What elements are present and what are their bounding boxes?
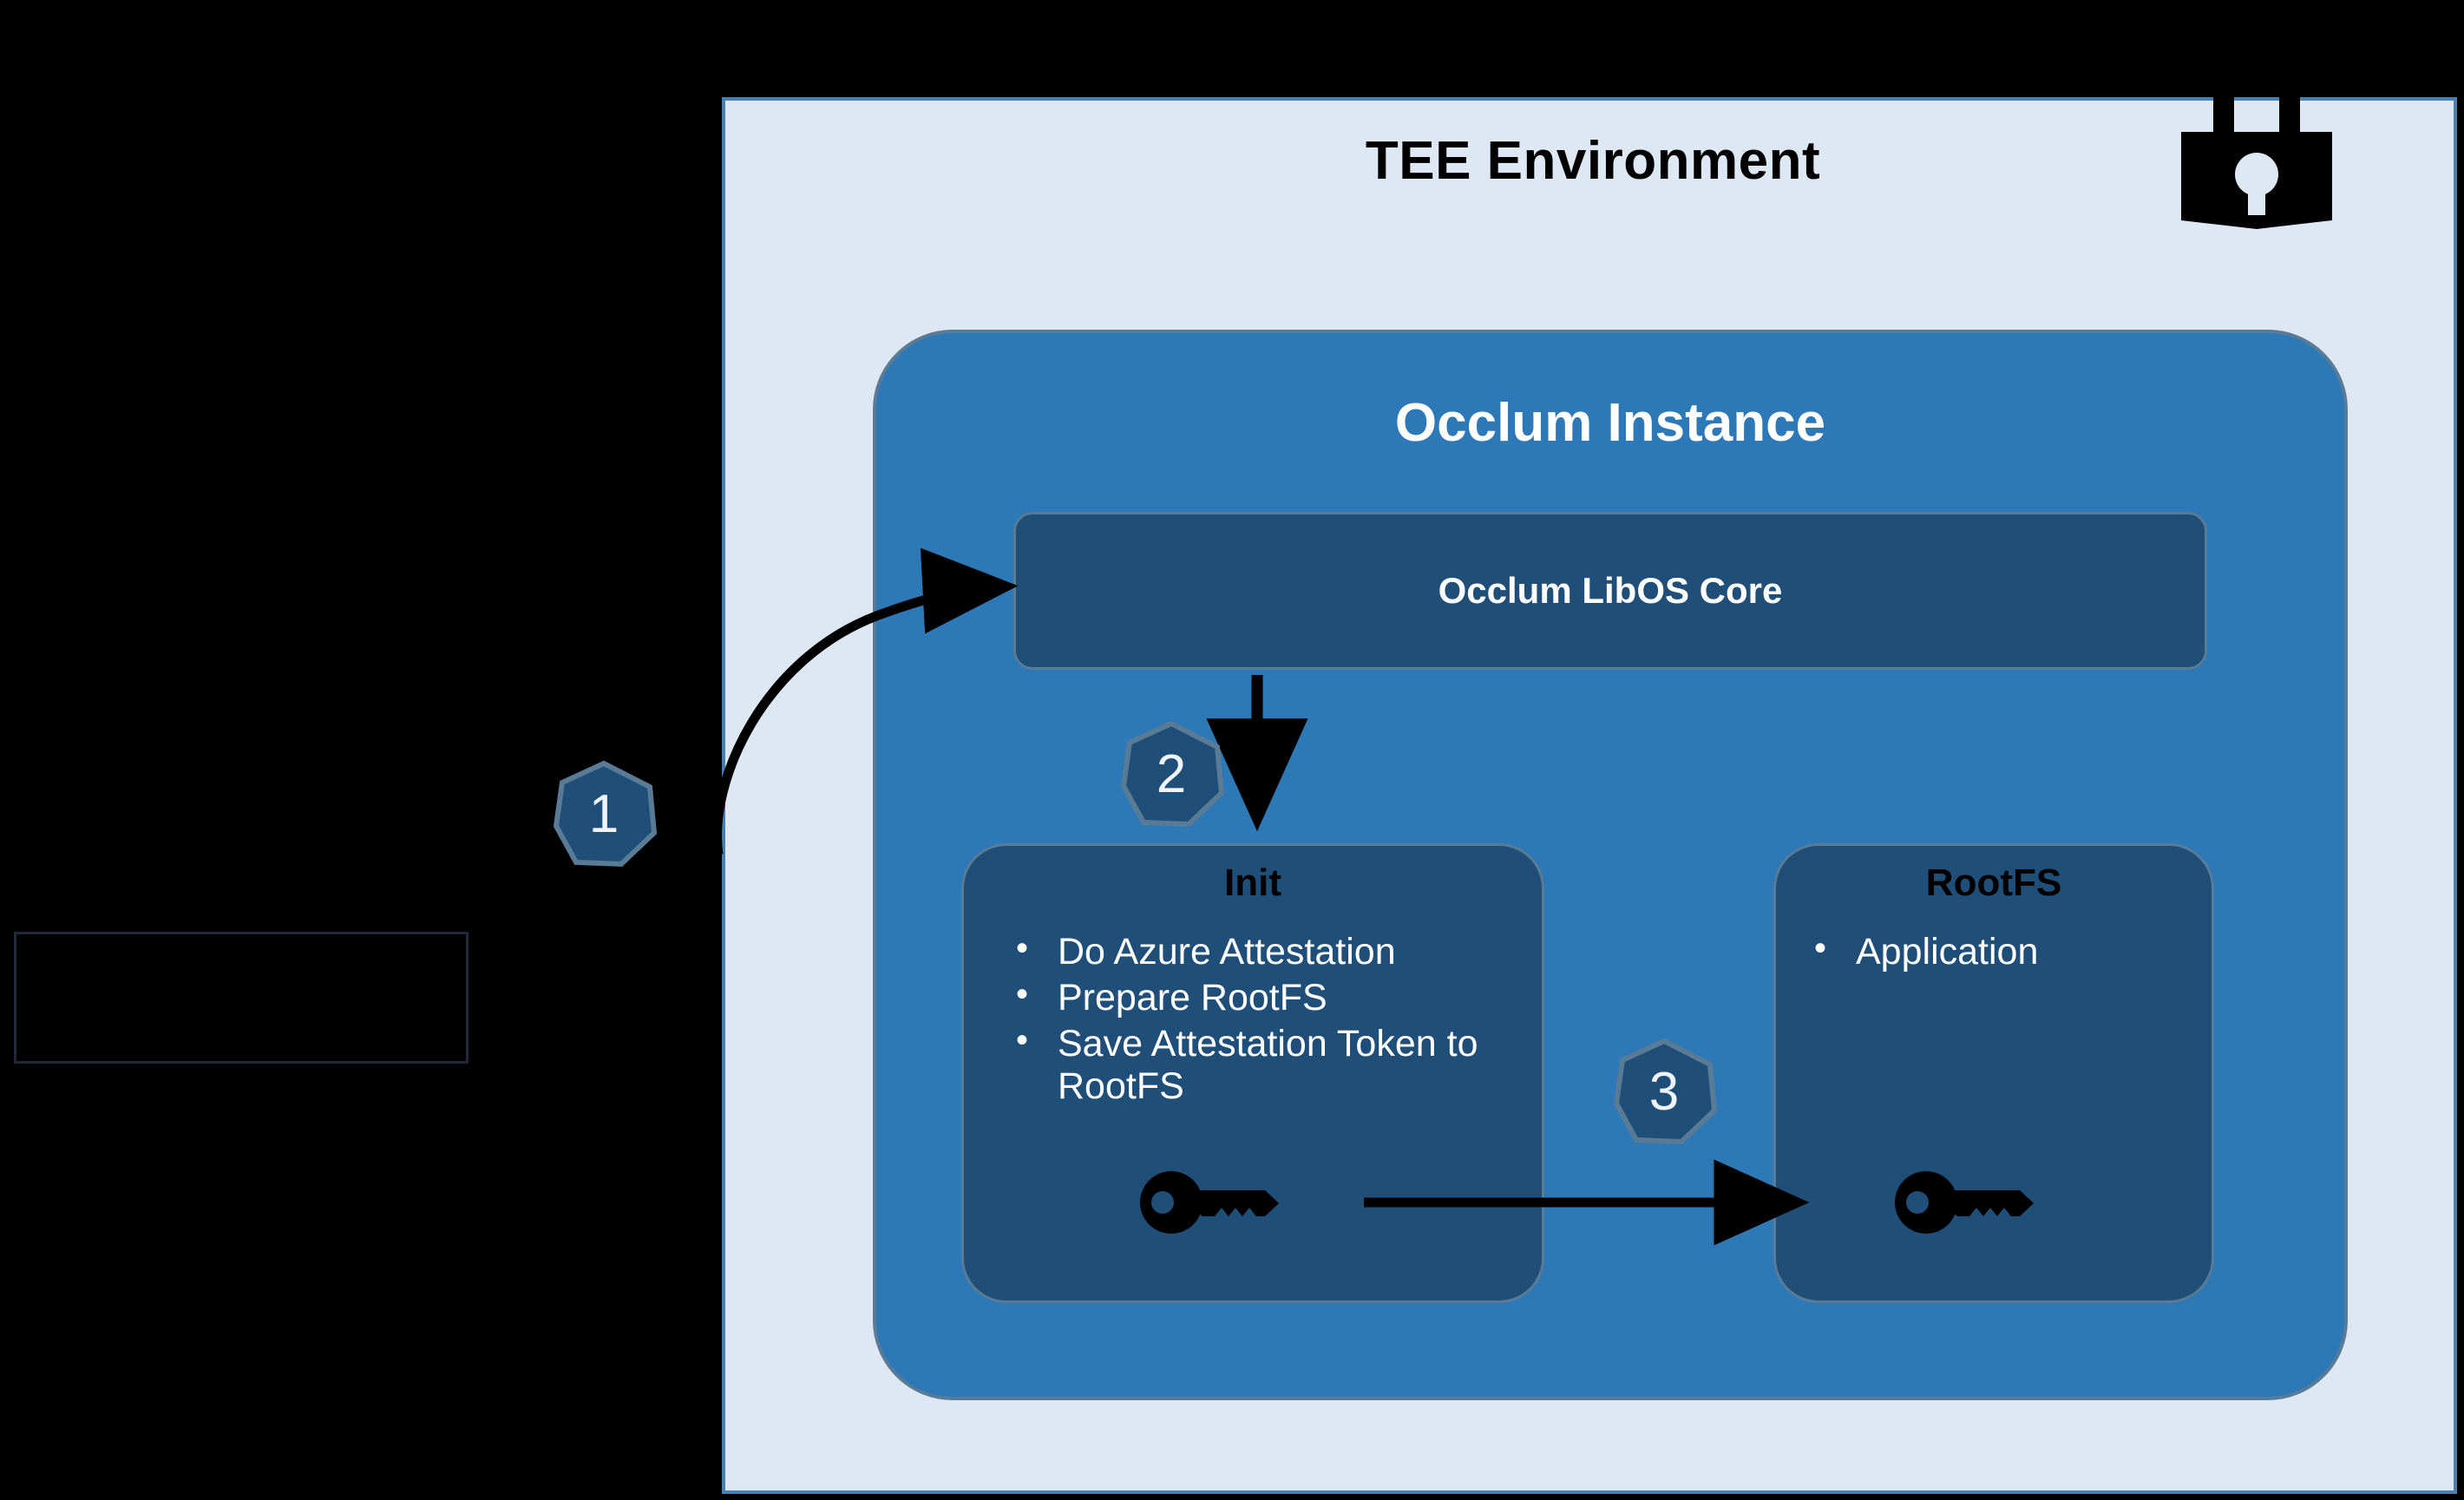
step-badge-1: 1 (550, 760, 658, 868)
rootfs-bullet-list: Application (1805, 931, 2194, 977)
key-icon (1135, 1171, 1291, 1234)
step-badge-3: 3 (1610, 1038, 1718, 1145)
init-bullet-list: Do Azure Attestation Prepare RootFS Save… (1007, 931, 1524, 1111)
step-badge-1-label: 1 (550, 760, 658, 868)
rootfs-title: RootFS (1776, 861, 2212, 905)
empty-outlined-box (14, 932, 469, 1064)
occlum-libos-core-box: Occlum LibOS Core (1013, 512, 2207, 670)
init-title: Init (964, 861, 1542, 905)
occlum-libos-core-label: Occlum LibOS Core (1438, 570, 1783, 612)
list-item: Do Azure Attestation (1007, 931, 1524, 973)
list-item: Save Attestation Token to RootFS (1007, 1023, 1524, 1108)
key-icon (1890, 1171, 2046, 1234)
list-item: Prepare RootFS (1007, 977, 1524, 1019)
lock-icon (2166, 56, 2348, 229)
rootfs-panel: RootFS Application (1773, 843, 2214, 1303)
occlum-instance-title: Occlum Instance (876, 392, 2344, 454)
diagram-canvas: TEE Environment Occlum Instance Occlum L… (0, 0, 2464, 1500)
step-badge-2-label: 2 (1117, 720, 1225, 828)
step-badge-3-label: 3 (1610, 1038, 1718, 1145)
step-badge-2: 2 (1117, 720, 1225, 828)
list-item: Application (1805, 931, 2194, 973)
init-panel: Init Do Azure Attestation Prepare RootFS… (961, 843, 1544, 1303)
